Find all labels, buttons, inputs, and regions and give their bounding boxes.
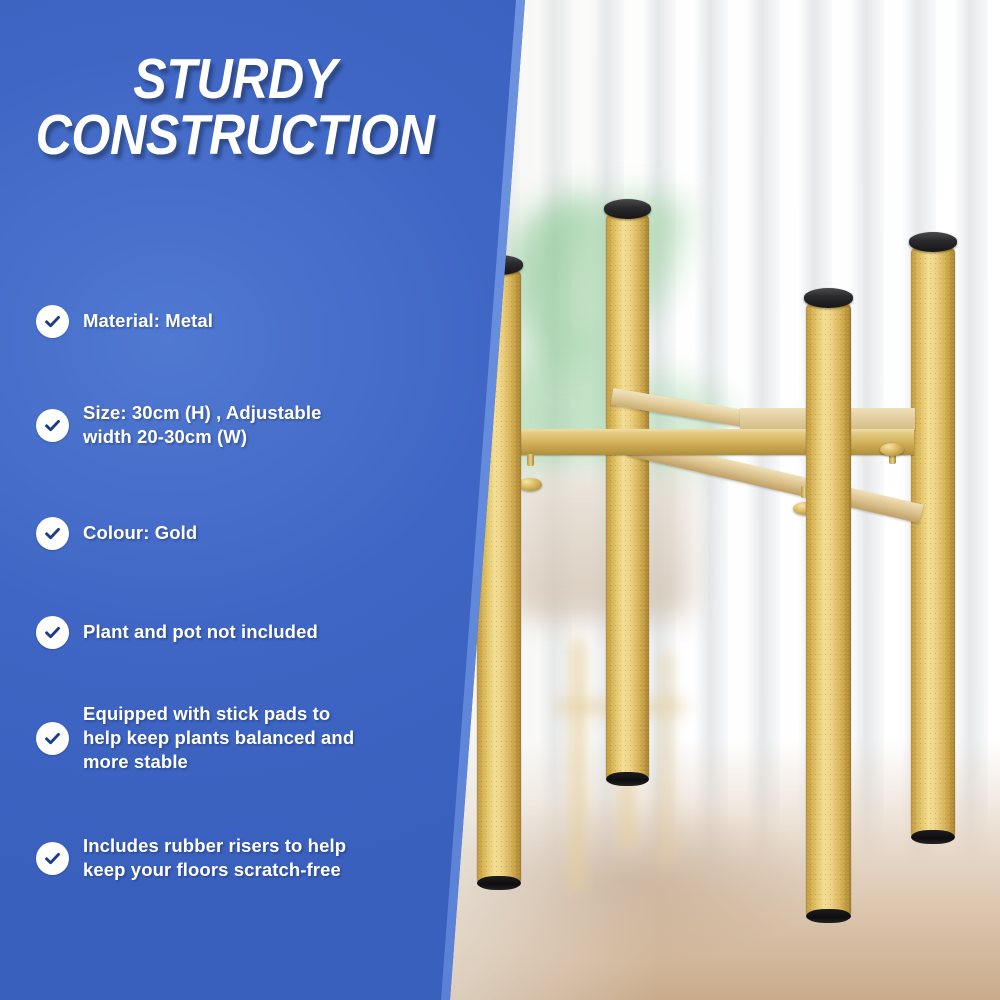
hinge-stem-left xyxy=(527,454,534,466)
feature-item-colour: Colour: Gold xyxy=(36,517,436,550)
check-circle-icon xyxy=(36,409,69,442)
check-circle-icon xyxy=(36,517,69,550)
check-circle-icon xyxy=(36,616,69,649)
feature-item-material: Material: Metal xyxy=(36,305,436,338)
stand-leg-rear-right xyxy=(911,243,955,843)
feature-item-size: Size: 30cm (H) , Adjustable width 20-30c… xyxy=(36,401,436,449)
check-circle-icon xyxy=(36,722,69,755)
leg-cap-front-right-icon xyxy=(804,288,853,308)
feature-text: Plant and pot not included xyxy=(83,620,318,644)
feature-text: Size: 30cm (H) , Adjustable width 20-30c… xyxy=(83,401,321,449)
feature-item-risers: Includes rubber risers to help keep your… xyxy=(36,834,436,882)
leg-foot-rear-left-icon xyxy=(606,772,649,786)
adjustment-knob-right xyxy=(880,443,904,456)
stand-leg-front-right xyxy=(806,299,851,922)
check-circle-icon xyxy=(36,305,69,338)
feature-item-inclusion: Plant and pot not included xyxy=(36,616,436,649)
leg-foot-front-left-icon xyxy=(477,876,521,890)
leg-cap-rear-right-icon xyxy=(909,232,957,252)
check-circle-icon xyxy=(36,842,69,875)
leg-cap-rear-left-icon xyxy=(604,199,651,219)
adjustment-knob-left xyxy=(518,478,542,491)
stand-leg-rear-left xyxy=(606,210,649,785)
feature-text: Colour: Gold xyxy=(83,521,197,545)
leg-foot-rear-right-icon xyxy=(911,830,955,844)
product-feature-infographic: STURDY CONSTRUCTION Material: Metal Size… xyxy=(0,0,1000,1000)
support-rail-front xyxy=(519,429,914,455)
feature-list: Material: Metal Size: 30cm (H) , Adjusta… xyxy=(0,0,470,1000)
feature-text: Material: Metal xyxy=(83,309,213,333)
feature-text: Includes rubber risers to help keep your… xyxy=(83,834,346,882)
feature-text: Equipped with stick pads to help keep pl… xyxy=(83,702,354,774)
leg-foot-front-right-icon xyxy=(806,909,851,923)
feature-item-stickpads: Equipped with stick pads to help keep pl… xyxy=(36,702,436,774)
